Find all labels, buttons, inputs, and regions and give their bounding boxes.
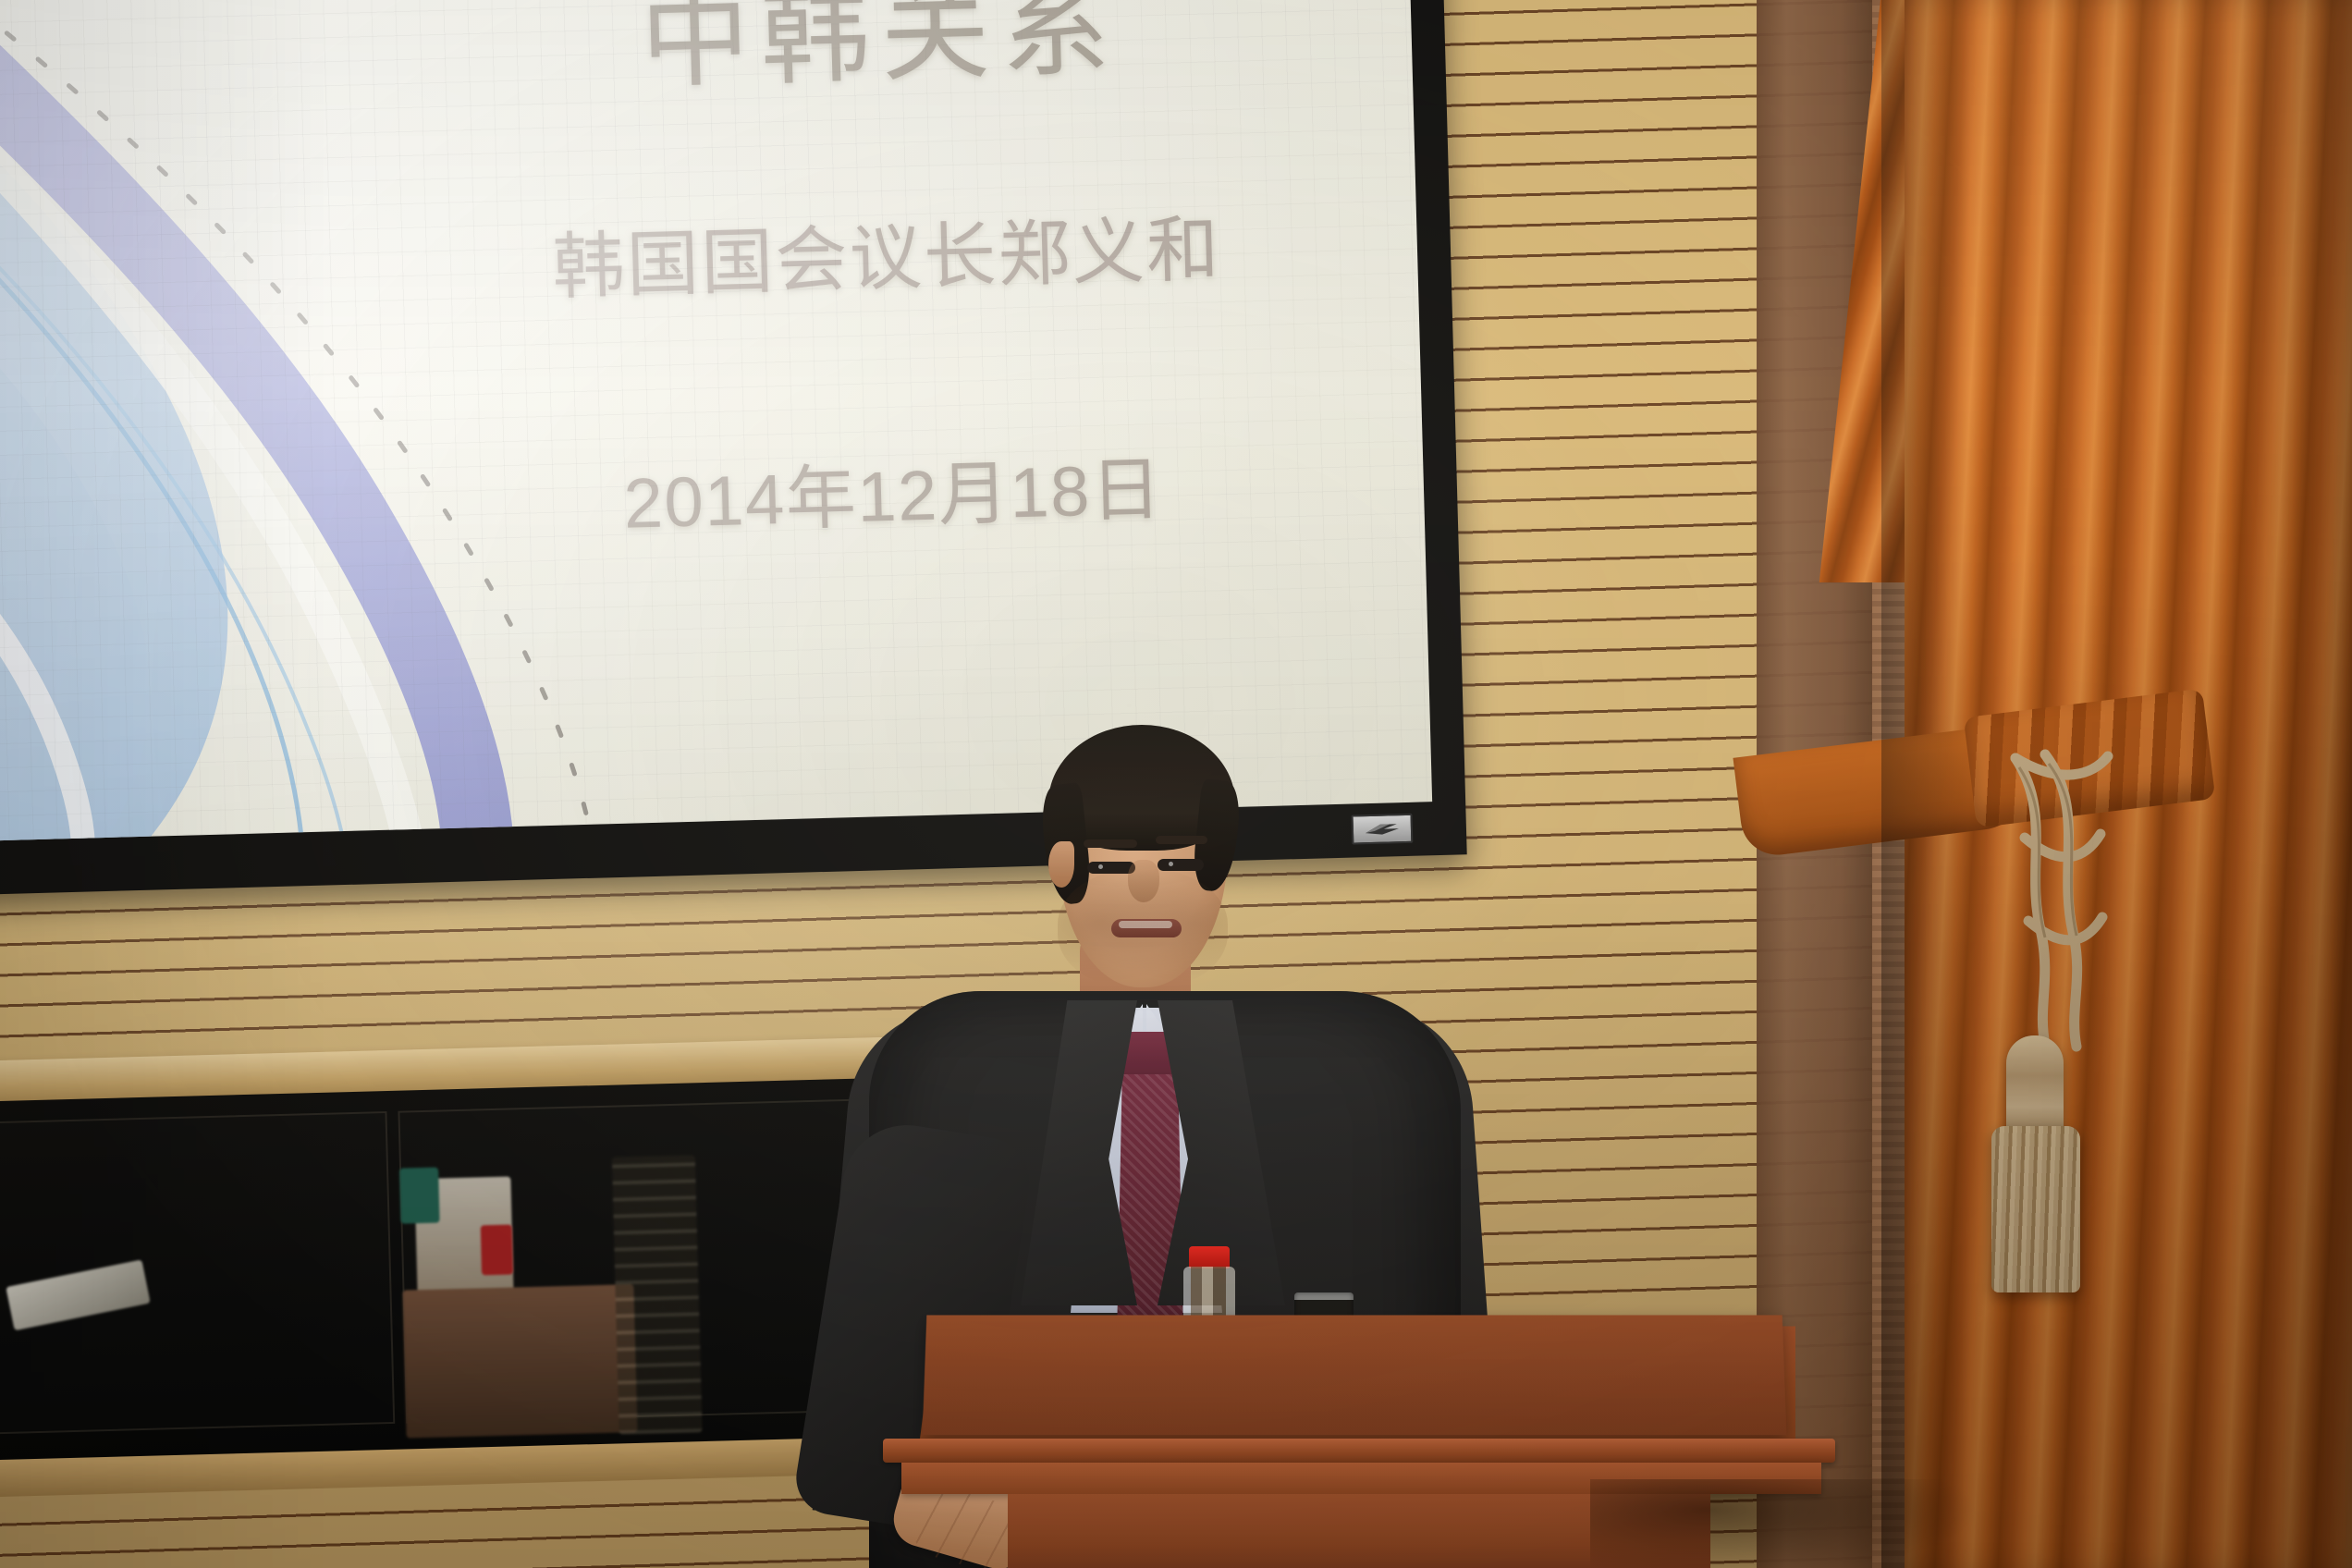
slide-title: 中韩关系 xyxy=(482,0,1280,106)
slide-date: 2014年12月18日 xyxy=(495,444,1292,549)
curtain-tassel-skirt xyxy=(1991,1126,2080,1292)
speaker-ear-left xyxy=(1048,841,1074,888)
projection-control-booth-window xyxy=(0,1078,897,1472)
water-bottle-cap xyxy=(1189,1246,1230,1268)
podium-moulding-lower xyxy=(901,1463,1821,1494)
speaker-brow-right xyxy=(1156,836,1207,844)
curtain-tassel-head xyxy=(2006,1035,2064,1137)
podium-moulding-upper xyxy=(883,1439,1835,1463)
podium-top-surface xyxy=(923,1315,1787,1435)
speaker-nose xyxy=(1128,860,1159,902)
booth-red-label xyxy=(481,1225,513,1276)
speaker-eye-right xyxy=(1158,859,1204,871)
podium-column xyxy=(1008,1494,1710,1568)
booth-equipment xyxy=(402,1284,637,1438)
booth-glass-pane-left xyxy=(0,1111,395,1434)
speaker-head xyxy=(1043,730,1239,989)
curtain-rope-cord xyxy=(1997,749,2237,1063)
speaker-eye-highlight-left xyxy=(1098,864,1103,869)
booth-rack-grille xyxy=(612,1155,703,1434)
slide-text-block: 中韩关系 韩国国会议长郑义和 2014年12月18日 xyxy=(482,0,1292,549)
slide-subtitle: 韩国国会议长郑义和 xyxy=(488,204,1285,312)
speaker-eye-highlight-right xyxy=(1169,862,1173,866)
speaker-brow-left xyxy=(1084,839,1137,848)
projection-screen-surface: 中韩关系 韩国国会议长郑义和 2014年12月18日 xyxy=(0,0,1432,843)
photo-scene: 中韩关系 韩国国会议长郑义和 2014年12月18日 xyxy=(0,0,2352,1568)
speaker-teeth xyxy=(1119,921,1172,928)
booth-green-item xyxy=(399,1168,440,1224)
